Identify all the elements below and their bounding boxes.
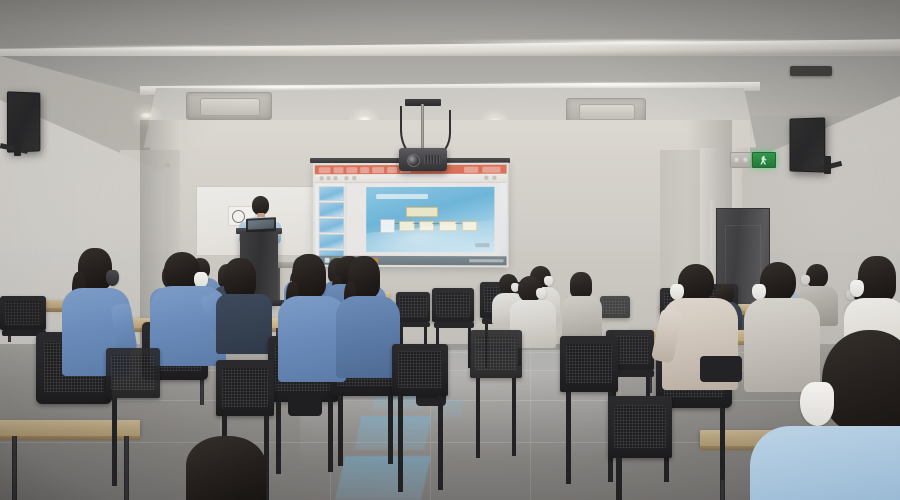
bag	[700, 356, 742, 382]
face-mask	[850, 280, 864, 297]
cove-light-strip	[470, 83, 740, 86]
face-mask	[544, 276, 553, 286]
wall-mounted-speaker-left	[7, 91, 40, 152]
side-table-leg	[278, 268, 280, 302]
table-leg	[124, 436, 129, 500]
slide-thumbnail[interactable]	[319, 234, 345, 249]
ceiling-speaker	[790, 66, 832, 76]
laptop-screen	[248, 219, 274, 229]
attendee-torso	[216, 294, 272, 354]
cove-light-strip	[160, 86, 400, 89]
presenter-laptop	[246, 217, 276, 233]
powerpoint-toolbar	[315, 174, 507, 184]
slide-editing-stage	[346, 183, 500, 256]
table-leg	[12, 436, 17, 500]
speaker-bracket	[824, 156, 831, 174]
projector-lens	[407, 154, 420, 167]
flow-node	[439, 221, 457, 231]
attendee-head	[858, 256, 896, 302]
attendee-head	[570, 272, 592, 298]
face-mask	[800, 382, 834, 426]
attendee-torso	[744, 298, 820, 392]
training-table	[0, 420, 140, 436]
attendee-head	[760, 262, 796, 302]
projection-screen	[313, 163, 509, 268]
projected-desktop	[315, 165, 507, 266]
speaker-bracket	[14, 140, 21, 156]
flow-start-badge	[380, 219, 395, 233]
cove-light-strip	[30, 46, 360, 50]
classroom-presentation-photo: ∎∎	[0, 0, 900, 500]
emergency-light	[730, 152, 752, 168]
running-man-icon	[760, 156, 768, 165]
attendee-head	[822, 330, 900, 434]
attendee-torso	[750, 426, 900, 500]
attendee-head	[186, 436, 266, 500]
screen-floor-reflection	[355, 416, 432, 450]
slide-thumbnail[interactable]	[319, 202, 345, 217]
slide-heading-text	[376, 194, 428, 199]
slide-thumbnail[interactable]	[319, 218, 345, 233]
cove-light-strip	[430, 40, 860, 44]
attendee-head	[678, 264, 714, 302]
recessed-downlight	[140, 112, 153, 119]
flow-node	[419, 221, 434, 231]
emergency-exit-sign	[752, 152, 776, 168]
taskbar-system-tray[interactable]	[469, 259, 503, 262]
bag	[288, 392, 322, 416]
projector-vent	[424, 155, 441, 164]
wall-mounted-speaker-right	[790, 117, 826, 172]
flow-node	[462, 221, 477, 231]
attendee-head	[224, 258, 256, 298]
flow-node	[399, 221, 415, 231]
slide-title-box	[406, 206, 438, 216]
slide-thumbnail-panel[interactable]	[316, 183, 347, 256]
slide-corner-mark	[475, 243, 489, 247]
attendee-torso	[336, 296, 400, 378]
attendee-torso	[562, 296, 602, 338]
face-mask	[106, 270, 119, 286]
face-mask	[801, 275, 810, 285]
ceiling-cassette-air-conditioner	[186, 92, 272, 120]
workflow-diagram-slide	[366, 187, 494, 252]
screen-floor-reflection	[335, 456, 431, 500]
wall-switch-plate[interactable]	[165, 163, 170, 167]
face-mask	[536, 288, 546, 299]
slide-thumbnail[interactable]	[319, 186, 345, 201]
